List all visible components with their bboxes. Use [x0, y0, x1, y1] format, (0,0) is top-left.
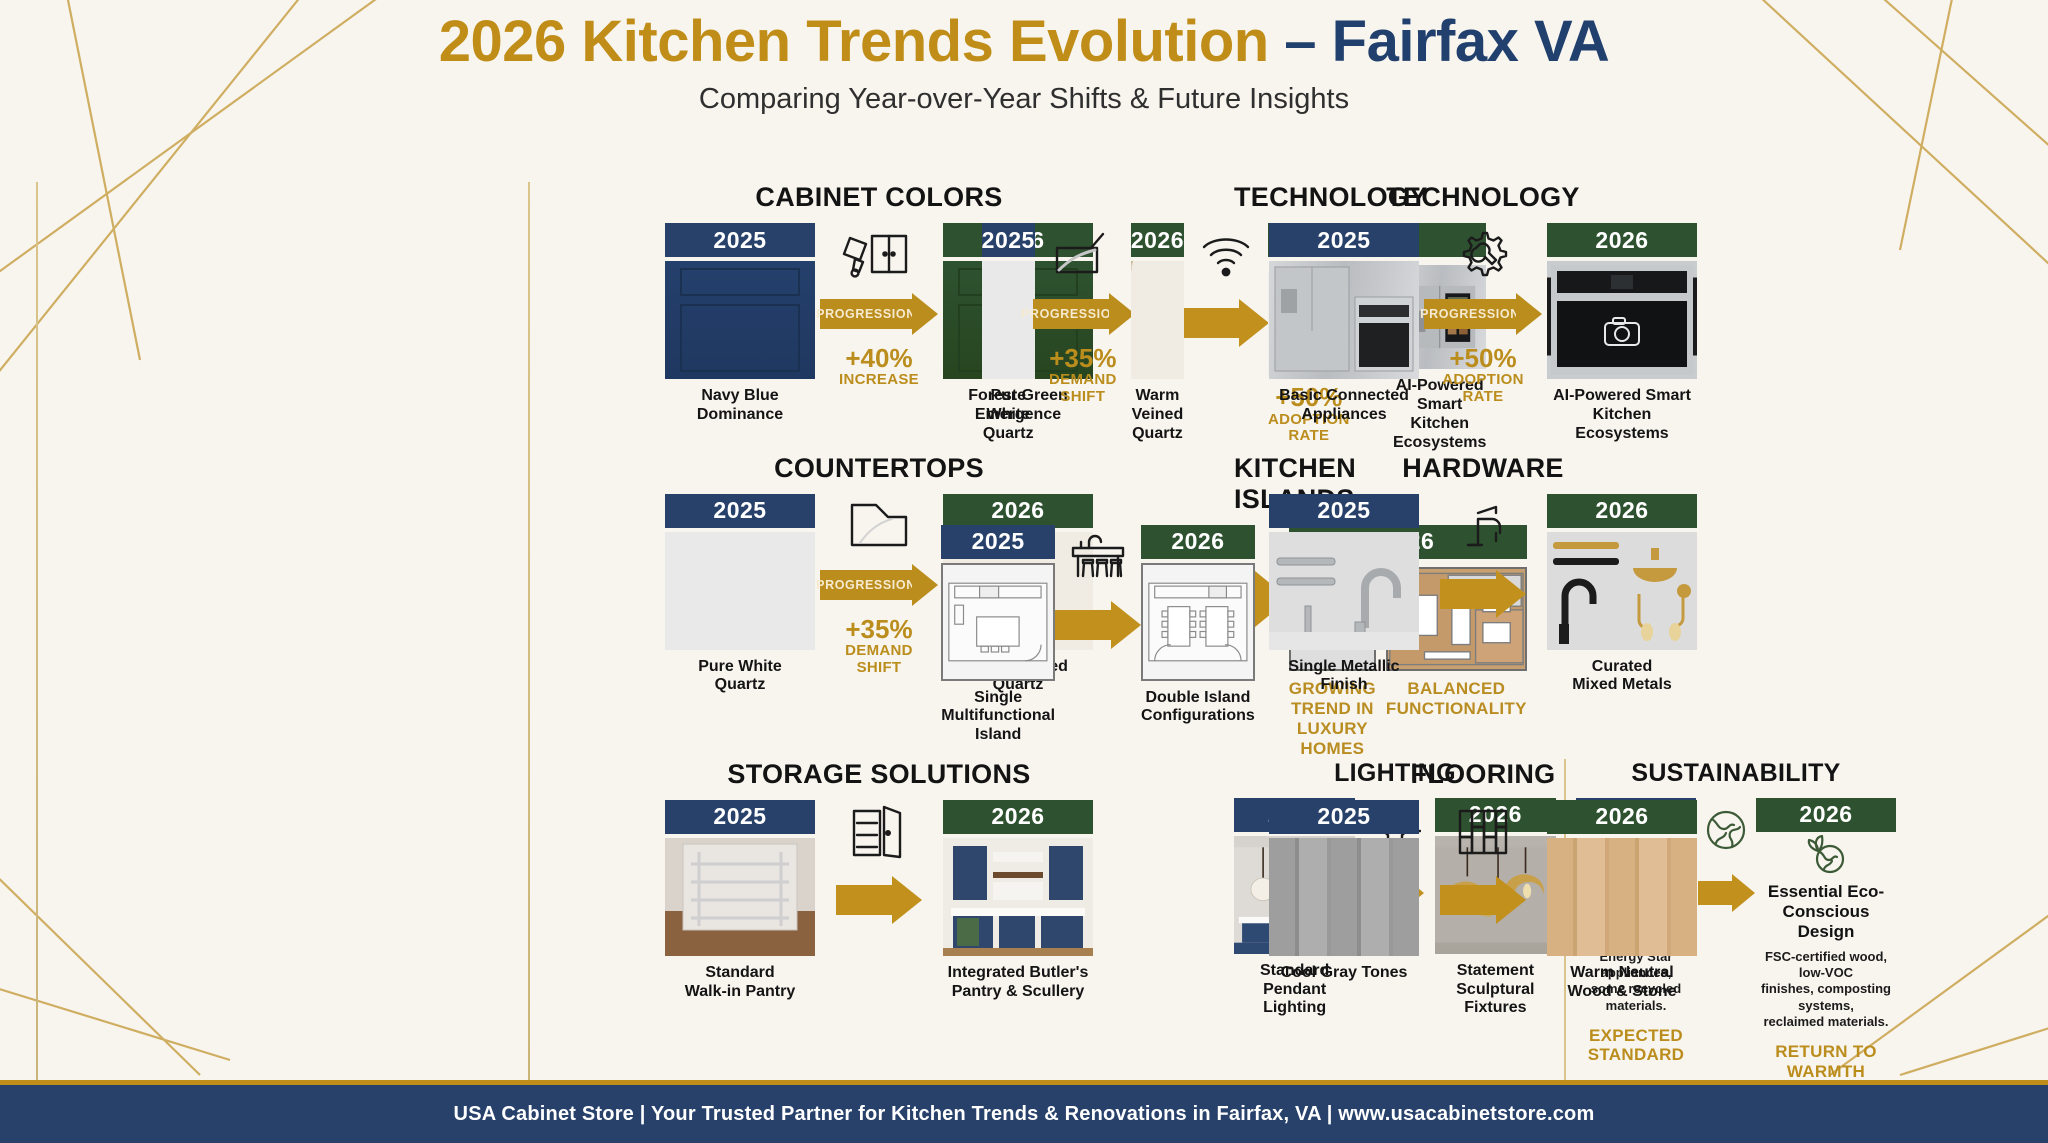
panel-caption: Integrated Butler'sPantry & Scullery	[948, 964, 1089, 1002]
countertop-slab-icon	[844, 496, 914, 556]
panel-caption: Warm NeutralWood & Stone	[1567, 964, 1676, 1002]
progression-label: PROGRESSION	[1033, 299, 1109, 329]
column-divider-left	[36, 182, 38, 1081]
year-badge-2026: 2026	[943, 494, 1093, 528]
year-badge-2025: 2025	[665, 800, 815, 834]
leaf-globe-icon	[1802, 832, 1850, 878]
page-header: 2026 Kitchen Trends Evolution – Fairfax …	[0, 10, 2048, 116]
metric: +35% DEMANDSHIFT	[1049, 345, 1117, 406]
progression-arrow: PROGRESSION	[1033, 293, 1133, 335]
footer-text: USA Cabinet Store | Your Trusted Partner…	[454, 1103, 1595, 1126]
panel-caption: Warm VeinedQuartz	[1131, 387, 1184, 444]
warm-veined-quartz-image	[1131, 261, 1184, 379]
walk-in-pantry-image	[665, 838, 815, 956]
panel-caption: AI-Powered SmartKitchen Ecosystems	[1547, 387, 1697, 444]
infographic-page: 2026 Kitchen Trends Evolution – Fairfax …	[0, 0, 2048, 1143]
section-flooring: FLOORING 2025 Cool Gray Tones 2026 Warm	[1244, 759, 1722, 1082]
gear-wrench-icon	[1454, 225, 1512, 285]
section-title: CABINET COLORS	[550, 182, 1208, 213]
section-title: TECHNOLOGY	[1250, 182, 1716, 213]
double-island-floorplan	[1141, 563, 1255, 681]
year-badge-2025: 2025	[1269, 800, 1419, 834]
year-panel-2025: 2025 Cool Gray Tones	[1269, 800, 1419, 983]
warm-neutral-flooring-image	[1547, 838, 1697, 956]
navy-cabinet-image	[665, 261, 815, 379]
metric-label: ADOPTIONRATE	[1442, 372, 1524, 406]
year-badge-2026: 2026	[1131, 223, 1184, 257]
progression-arrow-plain	[1440, 570, 1526, 618]
panel-caption: StandardWalk-in Pantry	[685, 964, 796, 1002]
year-panel-2026: 2026 AI-Powered SmartKitchen Ecosystems	[1547, 223, 1697, 444]
panel-caption: Single MetallicFinish	[1288, 658, 1399, 696]
sustainability-text: FSC-certified wood, low-VOCfinishes, com…	[1756, 949, 1896, 1030]
progression-arrow: PROGRESSION	[820, 564, 938, 606]
metric-value: +35%	[845, 616, 913, 643]
sustainability-tag: RETURN TOWARMTH	[1756, 1042, 1896, 1081]
pure-white-quartz-image	[665, 532, 815, 650]
metric-label: DEMANDSHIFT	[845, 643, 913, 677]
sections-grid: CABINET COLORS 2025 Navy BlueDominance P…	[36, 182, 2012, 1072]
page-title: 2026 Kitchen Trends Evolution – Fairfax …	[0, 10, 2048, 75]
basic-appliances-image	[1269, 261, 1419, 379]
cool-gray-flooring-image	[1269, 838, 1419, 956]
progression-arrow-plain	[836, 876, 922, 924]
year-badge-2025: 2025	[1269, 223, 1419, 257]
panel-caption: SingleMultifunctionalIsland	[941, 689, 1055, 746]
metric: +40% INCREASE	[839, 345, 919, 389]
smart-oven-image	[1547, 261, 1697, 379]
metric: +35% DEMANDSHIFT	[845, 616, 913, 677]
year-panel-2026: 2026 Essential Eco-Conscious Design FSC-…	[1756, 798, 1896, 1082]
progression-label: PROGRESSION	[1424, 299, 1516, 329]
progression-label: PROGRESSION	[820, 299, 912, 329]
panel-caption: Double IslandConfigurations	[1141, 689, 1255, 727]
progression-block: PROGRESSION +40% INCREASE	[815, 223, 943, 389]
year-panel-2025: 2025 Navy BlueDominance	[665, 223, 815, 425]
section-technology-right: TECHNOLOGY 2025 Basic ConnectedAppliance…	[1244, 182, 1722, 453]
countertop-slab-icon	[1051, 225, 1115, 285]
panel-caption: Cool Gray Tones	[1281, 964, 1408, 983]
section-kitchen-islands: KITCHEN ISLANDS 2025 SingleMultifunction…	[1228, 453, 1240, 759]
panel-caption: Pure WhiteQuartz	[982, 387, 1035, 444]
island-arrow-block	[1055, 525, 1141, 649]
year-panel-2025: 2025 StandardWalk-in Pantry	[665, 800, 815, 1002]
progression-arrow-plain	[1440, 876, 1526, 924]
year-panel-2026: 2026 CuratedMixed Metals	[1547, 494, 1697, 696]
footer-bar: USA Cabinet Store | Your Trusted Partner…	[0, 1085, 2048, 1143]
section-title: STORAGE SOLUTIONS	[550, 759, 1208, 790]
panel-caption: Navy BlueDominance	[697, 387, 783, 425]
paint-brush-cabinet-icon	[842, 225, 916, 285]
progression-block-left: PROGRESSION +35% DEMANDSHIFT	[1035, 223, 1131, 406]
section-title: HARDWARE	[1250, 453, 1716, 484]
section-title: COUNTERTOPS	[550, 453, 1208, 484]
year-badge-2026: 2026	[1547, 494, 1697, 528]
single-metallic-finish-image	[1269, 532, 1419, 650]
year-badge-2025: 2025	[665, 223, 815, 257]
metric-value: +50%	[1442, 345, 1524, 372]
year-panel-2025: 2025 Pure WhiteQuartz	[665, 494, 815, 696]
curated-mixed-metals-image	[1547, 532, 1697, 650]
island-with-stools-icon	[1067, 527, 1129, 587]
panel-caption: Pure WhiteQuartz	[698, 658, 782, 696]
flooring-arrow-block	[1419, 800, 1547, 924]
hardware-arrow-block	[1419, 494, 1547, 618]
year-badge-2025: 2025	[1269, 494, 1419, 528]
butlers-pantry-image	[943, 838, 1093, 956]
year-badge-2026: 2026	[1547, 800, 1697, 834]
progression-arrow: PROGRESSION	[1424, 293, 1542, 335]
progression-arrow-plain	[1055, 601, 1141, 649]
year-badge-2026: 2026	[943, 800, 1093, 834]
metric-label: DEMANDSHIFT	[1049, 372, 1117, 406]
section-storage-solutions: STORAGE SOLUTIONS 2025 StandardWalk-in P…	[544, 759, 1214, 1082]
year-badge-2025: 2025	[665, 494, 815, 528]
metric-value: +35%	[1049, 345, 1117, 372]
metric-value: +40%	[839, 345, 919, 372]
panel-caption: Basic ConnectedAppliances	[1279, 387, 1409, 425]
faucet-icon	[1454, 496, 1512, 556]
page-title-location: – Fairfax VA	[1284, 9, 1609, 74]
wood-planks-icon	[1454, 802, 1512, 862]
progression-label: PROGRESSION	[820, 570, 912, 600]
open-pantry-door-icon	[848, 802, 910, 862]
year-panel-2025: 2025 Pure WhiteQuartz	[982, 223, 1035, 444]
year-badge-2025: 2025	[941, 525, 1055, 559]
section-hardware: HARDWARE 2025 Single MetallicFinish 2	[1244, 453, 1722, 759]
year-badge-2026: 2026	[1756, 798, 1896, 832]
metric: +50% ADOPTIONRATE	[1442, 345, 1524, 406]
year-panel-2026-quartz: 2026 Warm VeinedQuartz	[1131, 223, 1184, 444]
year-panel-2026: 2026 Warm NeutralWood & Stone	[1547, 800, 1697, 1002]
year-panel-2025: 2025 Single MetallicFinish	[1269, 494, 1419, 696]
section-title: FLOORING	[1250, 759, 1716, 790]
year-panel-2025: 2025 Basic ConnectedAppliances	[1269, 223, 1419, 425]
progression-block: PROGRESSION +50% ADOPTIONRATE	[1419, 223, 1547, 406]
storage-arrow-block	[815, 800, 943, 924]
year-panel-2025: 2025 SingleMultifunctionalIsland	[941, 525, 1055, 746]
progression-block: PROGRESSION +35% DEMANDSHIFT	[815, 494, 943, 677]
year-badge-2026: 2026	[1141, 525, 1255, 559]
year-panel-2026: 2026 Integrated Butler'sPantry & Sculler…	[943, 800, 1093, 1002]
page-subtitle: Comparing Year-over-Year Shifts & Future…	[0, 83, 2048, 116]
year-badge-2025: 2025	[982, 223, 1035, 257]
year-panel-2026-double: 2026 Double IslandConfigurations	[1141, 525, 1255, 727]
section-lighting-sustainability: LIGHTING 2025 Standard PendantLighting	[1228, 759, 1240, 1082]
year-badge-2026: 2026	[1547, 223, 1697, 257]
column-divider-right	[528, 182, 530, 1081]
metric-label: INCREASE	[839, 372, 919, 389]
progression-arrow: PROGRESSION	[820, 293, 938, 335]
single-island-floorplan	[941, 563, 1055, 681]
sustainability-title: Essential Eco-Conscious Design	[1756, 882, 1896, 943]
section-technology-center: TECHNOLOGY 2025 Pure WhiteQuartz PROGRES…	[1228, 182, 1240, 453]
panel-caption: CuratedMixed Metals	[1572, 658, 1672, 696]
page-title-primary: 2026 Kitchen Trends Evolution	[439, 9, 1285, 74]
